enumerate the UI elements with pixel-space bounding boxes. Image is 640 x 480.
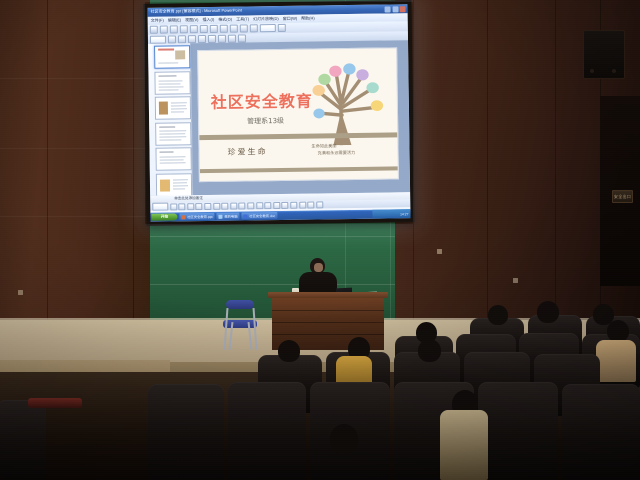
tray-clock: 14:27 — [400, 212, 408, 216]
window-controls[interactable] — [385, 6, 406, 12]
exit-sign: 安全出口 — [612, 190, 633, 203]
slide-thumbnail-5[interactable]: 5 — [155, 148, 191, 172]
italic-button[interactable] — [188, 35, 196, 43]
slide-thumbnail-3[interactable]: 3 — [155, 96, 191, 120]
notes-placeholder: 单击此处添加备注 — [174, 196, 203, 201]
taskbar-item-label: 社区安全教育.ppt — [187, 214, 212, 219]
clipart-icon[interactable] — [247, 202, 254, 209]
shadow-icon[interactable] — [307, 201, 314, 208]
wall-outlet — [437, 249, 442, 254]
slide-thumbnail-pane[interactable]: 1 2 3 — [148, 43, 193, 196]
align-left-button[interactable] — [208, 34, 216, 42]
menu-item-tools[interactable]: 工具(T) — [236, 16, 249, 22]
picture-icon[interactable] — [256, 202, 263, 209]
line-style-icon[interactable] — [290, 201, 297, 208]
taskbar-item-mycomputer[interactable]: 我的电脑 — [217, 213, 240, 220]
paste-button[interactable] — [230, 25, 238, 33]
slide-thumbnail-6[interactable]: 6 — [156, 173, 192, 197]
draw-menu-button[interactable] — [152, 203, 168, 211]
audience-torso — [440, 410, 488, 480]
close-icon[interactable] — [400, 6, 406, 12]
textbox-icon[interactable] — [221, 202, 228, 209]
font-color-button[interactable] — [238, 34, 246, 42]
wordart-icon[interactable] — [230, 202, 237, 209]
taskbar-item-label: 社区安全教育.doc — [249, 213, 275, 218]
audience-head — [330, 424, 358, 454]
fill-color-icon[interactable] — [264, 202, 271, 209]
audience-head — [607, 320, 629, 342]
presenter-face — [314, 263, 323, 272]
arrow-icon[interactable] — [196, 203, 203, 210]
system-tray[interactable]: 14:27 — [372, 209, 410, 219]
blue-chair — [222, 300, 258, 350]
menu-item-help[interactable]: 帮助(H) — [301, 15, 315, 21]
audience-head — [488, 305, 508, 325]
slide-thumbnail-2[interactable]: 2 — [154, 71, 190, 95]
slide-calligraphy-right-line2: 充满和永远需要活力 — [318, 150, 356, 157]
audience-head — [278, 340, 300, 362]
spellcheck-button[interactable] — [200, 25, 208, 33]
menu-item-insert[interactable]: 插入(I) — [202, 17, 214, 23]
menu-item-format[interactable]: 格式(O) — [218, 17, 232, 23]
preview-button[interactable] — [190, 25, 198, 33]
underline-button[interactable] — [198, 35, 206, 43]
bullets-button[interactable] — [228, 34, 236, 42]
slide-thumbnail-1[interactable]: 1 — [154, 45, 190, 69]
dash-style-icon[interactable] — [299, 201, 306, 208]
projected-desktop: 社区安全教育.ppt [兼容模式] - Microsoft PowerPoint… — [148, 4, 411, 222]
oval-icon[interactable] — [213, 202, 220, 209]
menu-item-file[interactable]: 文件(F) — [151, 18, 164, 24]
green-wall-seam — [150, 236, 400, 237]
minimize-icon[interactable] — [385, 6, 391, 12]
menu-item-slideshow[interactable]: 幻灯片放映(D) — [253, 16, 279, 22]
taskbar-item-ppt[interactable]: 社区安全教育.ppt — [180, 213, 215, 220]
3d-icon[interactable] — [316, 201, 323, 208]
font-select[interactable] — [150, 35, 166, 43]
help-button[interactable] — [278, 24, 286, 32]
slide-calligraphy-right-line1: 生命如此美丽 — [311, 143, 336, 150]
taskbar-item-doc[interactable]: 社区安全教育.doc — [242, 212, 278, 219]
copy-button[interactable] — [220, 25, 228, 33]
slide-title: 社区安全教育 — [211, 88, 313, 113]
seat — [478, 382, 558, 480]
audience-head — [537, 301, 559, 323]
slide-subtitle: 管理系13级 — [247, 116, 284, 127]
save-button[interactable] — [170, 25, 178, 33]
seat — [228, 382, 306, 480]
taskbar-item-label: 我的电脑 — [224, 214, 237, 219]
wall-speaker-icon — [583, 30, 625, 79]
slide-bottom-band — [200, 166, 398, 173]
wall-outlet — [18, 290, 23, 295]
diagram-icon[interactable] — [239, 202, 246, 209]
menu-item-view[interactable]: 视图(V) — [185, 17, 198, 23]
select-arrow-icon[interactable] — [170, 203, 177, 210]
line-icon[interactable] — [187, 203, 194, 210]
rectangle-icon[interactable] — [204, 202, 211, 209]
font-size-select[interactable] — [168, 35, 176, 43]
seat — [148, 384, 224, 480]
start-button-label: 开始 — [161, 215, 168, 220]
auditorium-scene: 安全出口 社区安全教育.ppt [兼容模式] - Microsoft Power… — [0, 0, 640, 480]
line-color-icon[interactable] — [273, 201, 280, 208]
audience-torso — [596, 340, 636, 382]
restore-icon[interactable] — [392, 6, 398, 12]
print-button[interactable] — [180, 25, 188, 33]
slide-editing-area[interactable]: 社区安全教育 管理系13级 珍爱生命 生命如此美丽 充满和永远需要活力 — [194, 43, 403, 186]
slide-calligraphy-left: 珍爱生命 — [227, 146, 267, 158]
seat — [0, 400, 46, 480]
open-button[interactable] — [160, 26, 168, 34]
wall-outlet — [513, 278, 518, 283]
seat-armrest — [28, 398, 82, 408]
autoshapes-button[interactable] — [178, 203, 185, 210]
projection-screen: 社区安全教育.ppt [兼容模式] - Microsoft PowerPoint… — [143, 0, 414, 226]
menu-item-edit[interactable]: 编辑(E) — [168, 17, 181, 23]
align-center-button[interactable] — [218, 34, 226, 42]
zoom-select[interactable] — [260, 24, 276, 32]
redo-button[interactable] — [250, 24, 258, 32]
menu-item-window[interactable]: 窗口(W) — [283, 16, 298, 22]
audience-head — [418, 339, 441, 362]
bold-button[interactable] — [178, 35, 186, 43]
exit-sign-label: 安全出口 — [614, 194, 631, 200]
font-color-icon[interactable] — [282, 201, 289, 208]
slide-thumbnail-4[interactable]: 4 — [155, 122, 191, 146]
seat — [562, 384, 640, 480]
left-wood-wall — [0, 0, 150, 340]
ppt-workspace: 1 2 3 — [148, 40, 410, 196]
start-button[interactable]: 开始 — [151, 213, 177, 221]
current-slide[interactable]: 社区安全教育 管理系13级 珍爱生命 生命如此美丽 充满和永远需要活力 — [197, 47, 399, 182]
ppt-window-title: 社区安全教育.ppt [兼容模式] - Microsoft PowerPoint — [151, 8, 242, 15]
green-wall-seam — [150, 284, 400, 285]
new-button[interactable] — [150, 26, 158, 34]
undo-button[interactable] — [240, 24, 248, 32]
cut-button[interactable] — [210, 25, 218, 33]
